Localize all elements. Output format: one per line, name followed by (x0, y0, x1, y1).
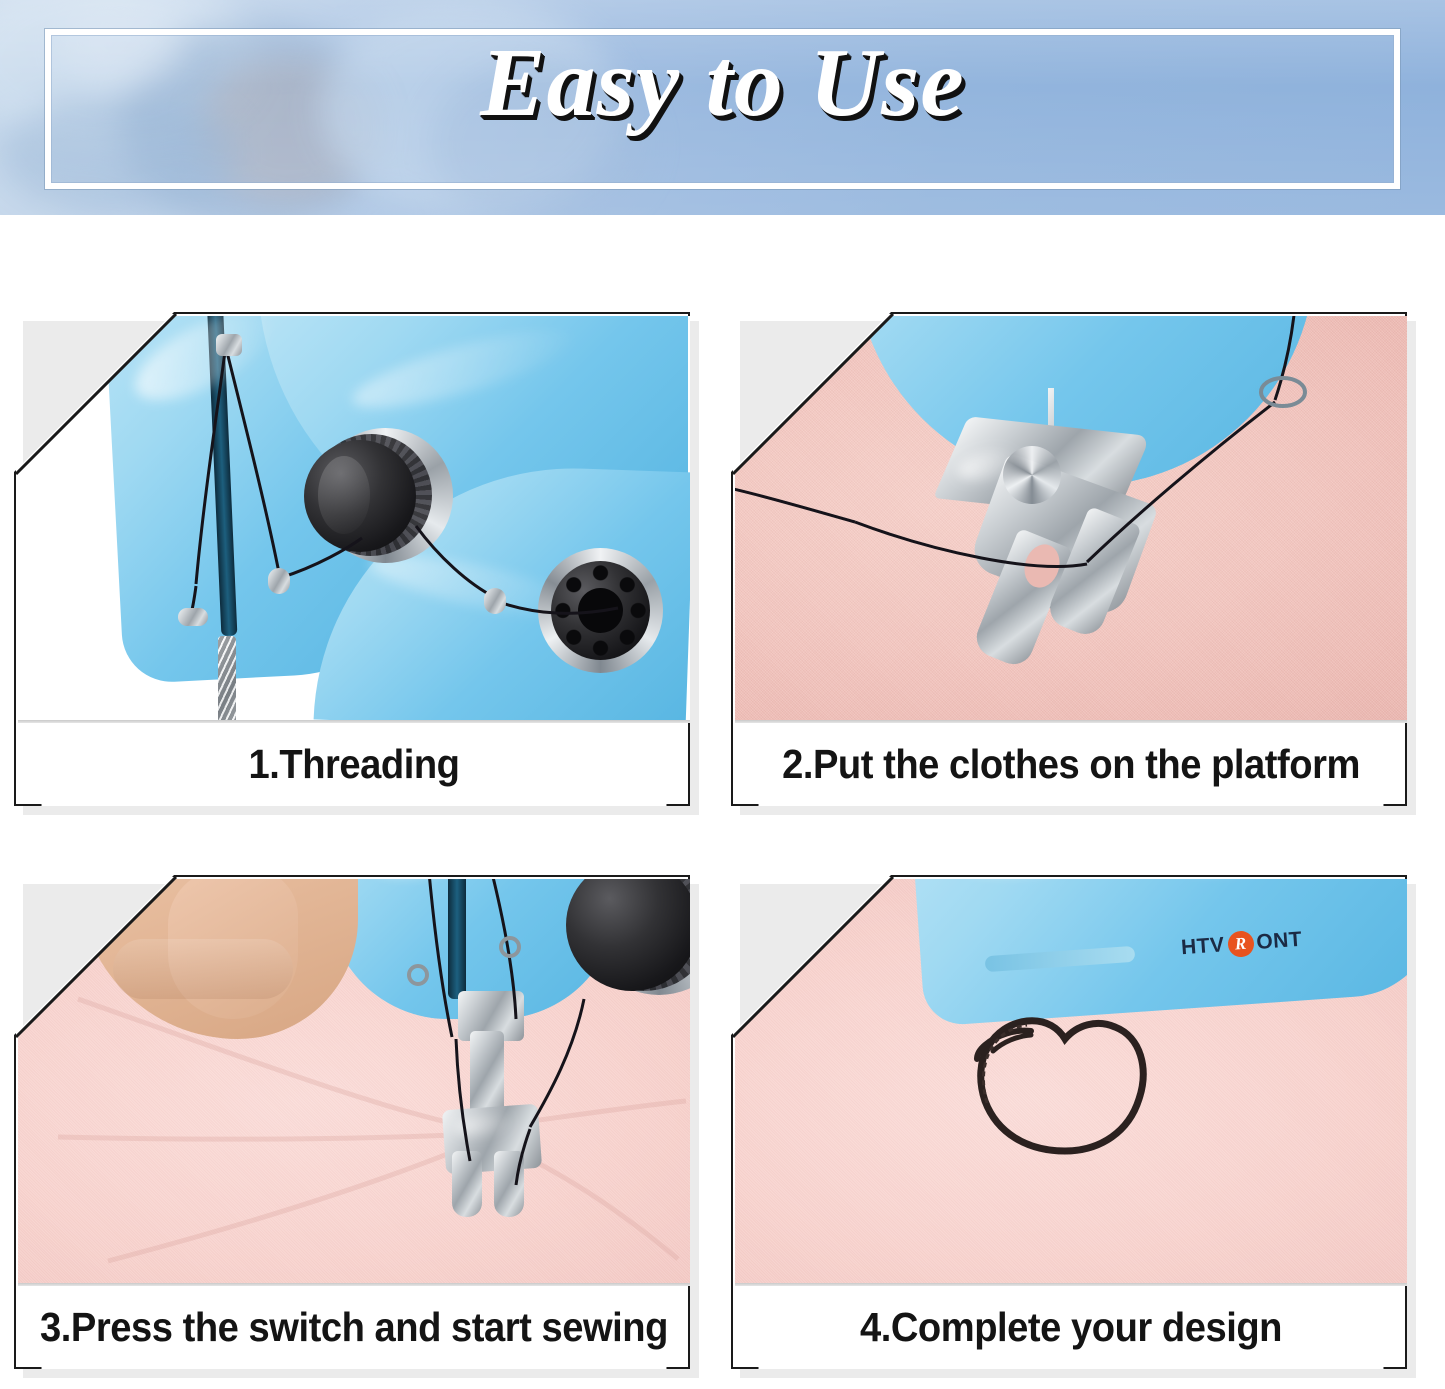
step-card-4[interactable]: HTV R ONT 4.Complete your (731, 875, 1407, 1369)
step-2-photo (735, 316, 1407, 720)
card-body: HTV R ONT 4.Complete your (731, 875, 1407, 1369)
presser-foot-scene (735, 316, 1407, 720)
thread-path-icon (18, 879, 690, 1283)
thread-guide-icon (484, 588, 506, 614)
card-body: 3.Press the switch and start sewing (14, 875, 690, 1369)
step-4-photo: HTV R ONT (735, 879, 1407, 1283)
step-3-photo (18, 879, 690, 1283)
thread-guide-icon (178, 608, 208, 626)
hand-sewing-scene (18, 879, 690, 1283)
stitched-apple-icon (735, 879, 1407, 1283)
card-body: 1.Threading (14, 312, 690, 806)
threading-scene (18, 316, 690, 720)
step-1-photo (18, 316, 690, 720)
step-3-caption: 3.Press the switch and start sewing (42, 1286, 667, 1369)
step-1-caption: 1.Threading (42, 723, 667, 806)
step-2-caption: 2.Put the clothes on the platform (759, 723, 1384, 806)
steps-grid: 1.Threading (0, 215, 1445, 1389)
thread-path-icon (735, 316, 1407, 720)
step-card-1[interactable]: 1.Threading (14, 312, 690, 806)
finished-design-scene: HTV R ONT (735, 879, 1407, 1283)
thread-guide-icon (268, 568, 290, 594)
page-title: Easy to Use (0, 34, 1445, 132)
step-card-2[interactable]: 2.Put the clothes on the platform (731, 312, 1407, 806)
thread-path-icon (18, 316, 690, 720)
card-body: 2.Put the clothes on the platform (731, 312, 1407, 806)
step-4-caption: 4.Complete your design (759, 1286, 1384, 1369)
thread-guide-icon (216, 334, 242, 356)
step-card-3[interactable]: 3.Press the switch and start sewing (14, 875, 690, 1369)
header-banner: Easy to Use (0, 0, 1445, 215)
